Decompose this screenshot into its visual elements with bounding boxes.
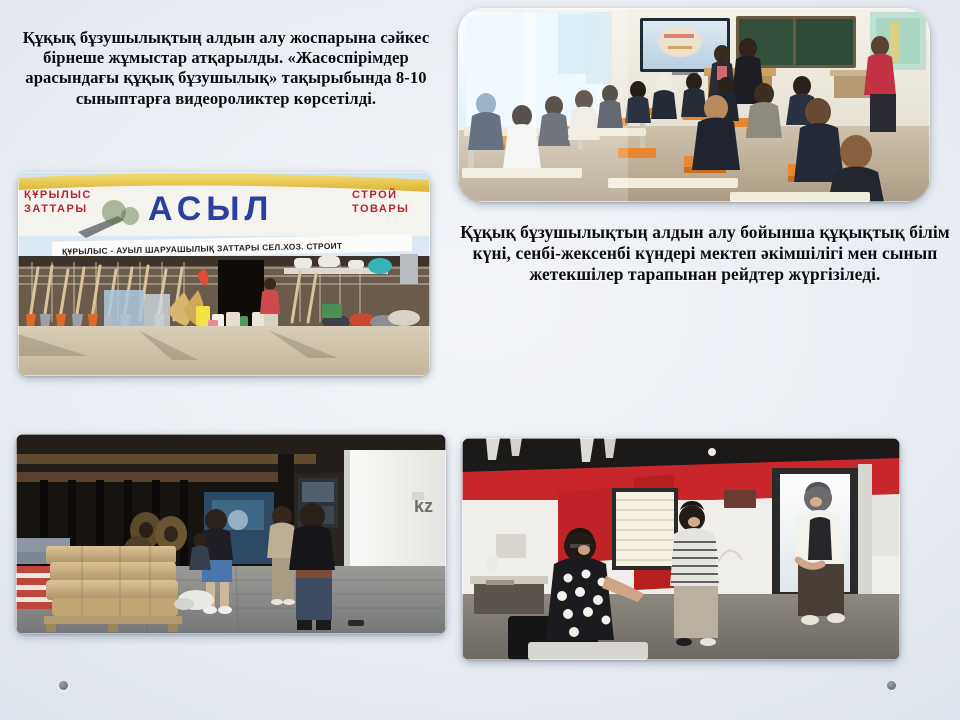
photo-office-image: [462, 438, 900, 660]
photo-office: [462, 438, 900, 660]
svg-text:ЗАТТАРЫ: ЗАТТАРЫ: [24, 203, 88, 215]
caption-right: Құқық бұзушылықтың алдын алу бойынша құқ…: [455, 222, 955, 286]
caption-top-left: Құқық бұзушылықтың алдын алу жоспарына с…: [16, 28, 436, 109]
bullet-dot-right-icon: [887, 681, 896, 690]
photo-warehouse-image: kz: [16, 434, 446, 634]
svg-text:АСЫЛ: АСЫЛ: [148, 190, 273, 228]
photo-classroom: [458, 8, 930, 202]
photo-classroom-image: [458, 8, 930, 202]
photo-warehouse: kz: [16, 434, 446, 634]
photo-shop: АСЫЛ ҚҰРЫЛЫС ЗАТТАРЫ СТРОЙ ТОВАРЫ ҚҰРЫЛЫ…: [18, 172, 430, 376]
photo-shop-image: АСЫЛ ҚҰРЫЛЫС ЗАТТАРЫ СТРОЙ ТОВАРЫ ҚҰРЫЛЫ…: [18, 172, 430, 376]
slide-canvas: Құқық бұзушылықтың алдын алу жоспарына с…: [0, 0, 960, 720]
svg-text:ТОВАРЫ: ТОВАРЫ: [352, 203, 409, 215]
svg-text:СТРОЙ: СТРОЙ: [352, 188, 398, 201]
bullet-dot-left-icon: [59, 681, 68, 690]
svg-text:ҚҰРЫЛЫС: ҚҰРЫЛЫС: [24, 189, 92, 201]
